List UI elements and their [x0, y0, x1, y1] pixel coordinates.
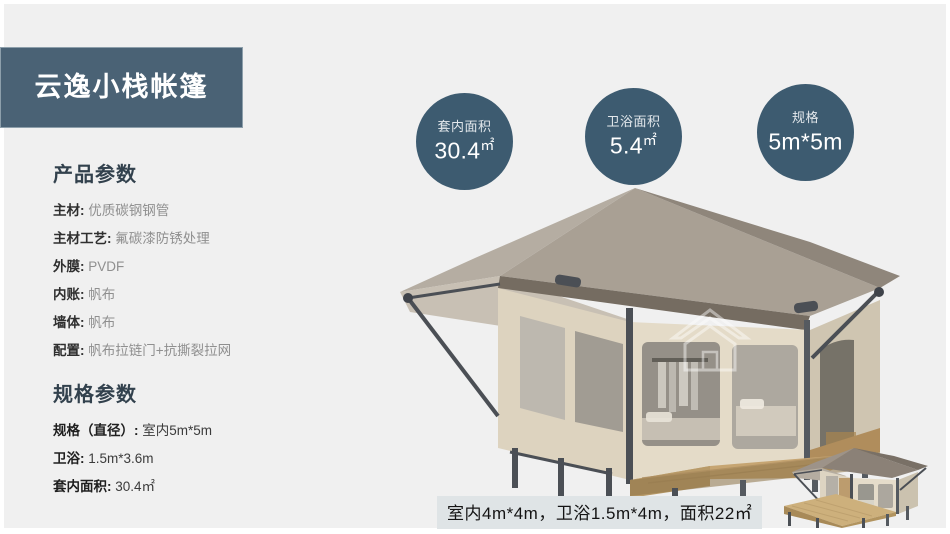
spec-row: 规格（直径）: 室内5m*5m: [53, 417, 353, 445]
spec-row: 外膜: PVDF: [53, 253, 353, 281]
spec-value: 帆布: [88, 315, 115, 330]
spec-value: 氟碳漆防锈处理: [115, 231, 210, 246]
spec-row: 卫浴: 1.5m*3.6m: [53, 445, 353, 473]
size-parameters-block: 规格参数 规格（直径）: 室内5m*5m 卫浴: 1.5m*3.6m 套内面积:…: [53, 383, 353, 501]
spec-key: 内账:: [53, 287, 85, 302]
product-parameters-block: 产品参数 主材: 优质碳钢钢管 主材工艺: 氟碳漆防锈处理 外膜: PVDF 内…: [53, 163, 353, 365]
badge-label: 套内面积: [437, 120, 491, 134]
spec-key: 配置:: [53, 343, 85, 358]
badge-number: 5.4: [610, 132, 643, 158]
spec-key: 套内面积:: [53, 479, 112, 494]
badge-value: 30.4㎡: [434, 138, 494, 163]
caption-band: 室内4m*4m，卫浴1.5m*4m，面积22㎡: [437, 496, 762, 529]
spec-value: 1.5m*3.6m: [88, 451, 153, 466]
spec-key: 主材:: [53, 203, 85, 218]
badge-number: 30.4: [434, 137, 480, 163]
section-heading-product: 产品参数: [53, 163, 353, 187]
badge-label: 卫浴面积: [606, 115, 660, 129]
spec-value: 帆布拉链门+抗撕裂拉网: [88, 343, 231, 358]
specifications-column: 产品参数 主材: 优质碳钢钢管 主材工艺: 氟碳漆防锈处理 外膜: PVDF 内…: [53, 163, 353, 501]
spec-value: 30.4㎡: [115, 479, 155, 494]
spec-row: 墙体: 帆布: [53, 309, 353, 337]
badge-circle-bathroom-area: 卫浴面积 5.4㎡: [585, 88, 682, 185]
spec-key: 卫浴:: [53, 451, 85, 466]
spec-key: 墙体:: [53, 315, 85, 330]
section-heading-size: 规格参数: [53, 383, 353, 407]
badge-value: 5m*5m: [768, 129, 842, 154]
spec-row: 套内面积: 30.4㎡: [53, 473, 353, 501]
spec-row: 主材: 优质碳钢钢管: [53, 197, 353, 225]
spec-value: 帆布: [88, 287, 115, 302]
badge-number: 5m*5m: [768, 128, 842, 154]
page-title: 云逸小栈帐篷: [35, 74, 209, 101]
spec-value: PVDF: [88, 259, 124, 274]
badge-circle-dimensions: 规格 5m*5m: [757, 84, 854, 181]
badge-unit: ㎡: [480, 137, 494, 153]
badge-circle-interior-area: 套内面积 30.4㎡: [416, 93, 513, 190]
badge-value: 5.4㎡: [610, 133, 657, 158]
spec-row: 内账: 帆布: [53, 281, 353, 309]
slide-root: 云逸小栈帐篷 产品参数 主材: 优质碳钢钢管 主材工艺: 氟碳漆防锈处理 外膜:…: [0, 0, 950, 534]
spec-value: 室内5m*5m: [142, 423, 212, 438]
spec-key: 主材工艺:: [53, 231, 112, 246]
spec-value: 优质碳钢钢管: [88, 203, 169, 218]
spec-key: 外膜:: [53, 259, 85, 274]
title-banner: 云逸小栈帐篷: [0, 47, 243, 128]
spec-row: 主材工艺: 氟碳漆防锈处理: [53, 225, 353, 253]
tent-thumbnail-image: [776, 444, 942, 530]
badge-unit: ㎡: [643, 132, 657, 148]
badge-label: 规格: [792, 111, 819, 125]
spec-row: 配置: 帆布拉链门+抗撕裂拉网: [53, 337, 353, 365]
spec-key: 规格（直径）:: [53, 423, 139, 438]
